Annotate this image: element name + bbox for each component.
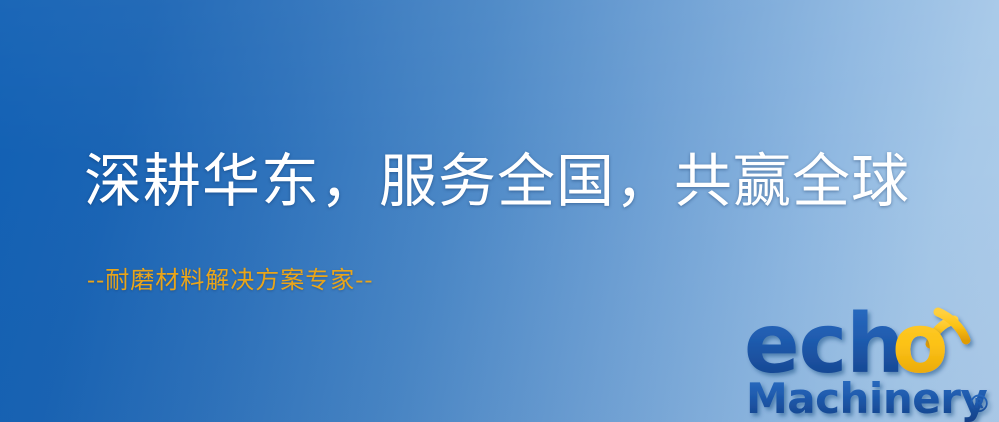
- page-subtitle: --耐磨材料解决方案专家--: [87, 268, 373, 292]
- page-title: 深耕华东，服务全国，共赢全球: [84, 152, 910, 210]
- logo-registered-mark: ®: [967, 390, 991, 418]
- logo-wordmark-machinery: Machinery: [746, 374, 987, 422]
- promo-banner: 深耕华东，服务全国，共赢全球 --耐磨材料解决方案专家--: [0, 0, 999, 422]
- company-logo[interactable]: ech o Machinery ®: [740, 292, 999, 422]
